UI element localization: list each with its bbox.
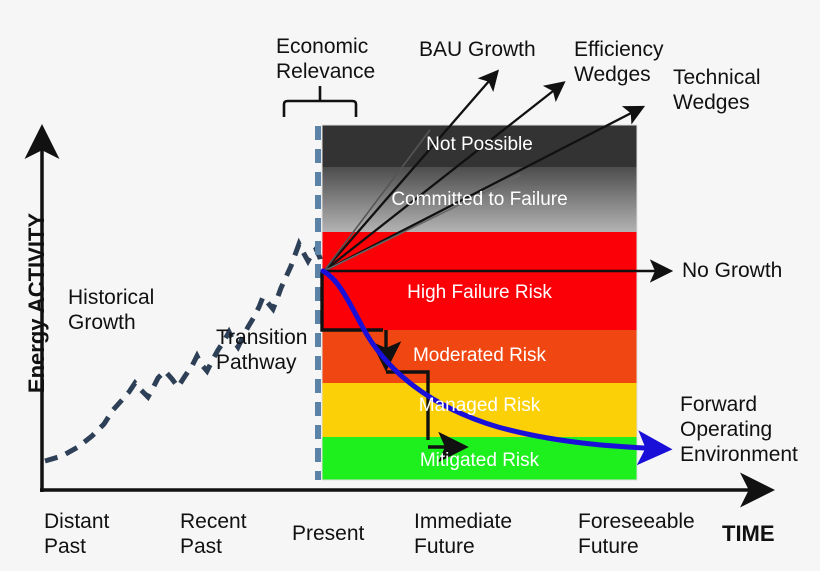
band-label-managed-risk: Managed Risk <box>322 395 637 417</box>
annotation-historical-growth: Historical Growth <box>68 285 154 335</box>
x-tick-distant-past: Distant Past <box>44 509 109 559</box>
band-label-high-failure-risk: High Failure Risk <box>322 282 637 304</box>
annotation-forward-operating-environment: Forward Operating Environment <box>680 392 798 467</box>
economic-relevance-bracket <box>284 86 356 117</box>
annotation-bau-growth: BAU Growth <box>419 37 536 62</box>
x-axis-title: TIME <box>722 521 775 547</box>
annotation-efficiency-wedges: Efficiency Wedges <box>574 37 664 87</box>
annotation-no-growth: No Growth <box>682 258 782 283</box>
band-label-not-possible: Not Possible <box>322 134 637 156</box>
x-tick-immediate-future: Immediate Future <box>414 509 512 559</box>
diagram-canvas: Energy ACTIVITY TIME Distant Past Recent… <box>0 0 820 571</box>
x-tick-recent-past: Recent Past <box>180 509 247 559</box>
x-tick-present: Present <box>292 521 364 546</box>
band-label-committed-to-failure: Committed to Failure <box>322 189 637 211</box>
annotation-transition-pathway: Transition Pathway <box>216 325 307 375</box>
y-axis-title: Energy ACTIVITY <box>24 203 50 403</box>
annotation-technical-wedges: Technical Wedges <box>673 65 761 115</box>
band-label-mitigated-risk: Mitigated Risk <box>322 450 637 472</box>
x-tick-foreseeable-future: Foreseeable Future <box>578 509 695 559</box>
annotation-economic-relevance: Economic Relevance <box>276 34 375 84</box>
band-label-moderated-risk: Moderated Risk <box>322 345 637 367</box>
